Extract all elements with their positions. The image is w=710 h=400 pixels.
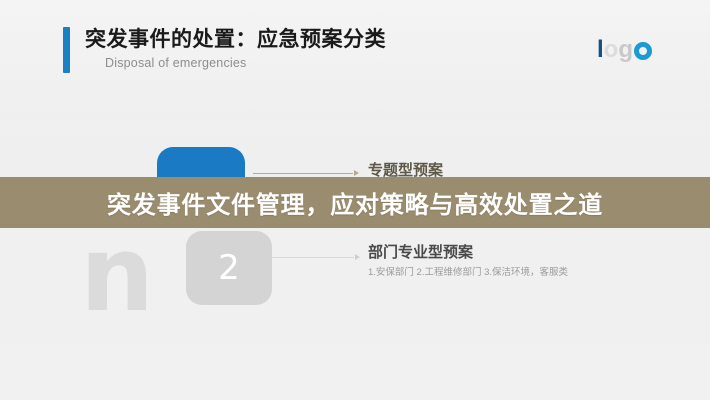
category-label-2: 部门专业型预案 1.安保部门 2.工程维修部门 3.保洁环境，客服类 <box>368 243 568 279</box>
slide-screenshot: 突发事件的处置：应急预案分类 Disposal of emergencies l… <box>0 0 710 400</box>
logo-letter-g: g <box>618 37 633 63</box>
category-title-2: 部门专业型预案 <box>368 243 568 262</box>
connector-arrow-1-icon <box>354 170 359 176</box>
slide-subtitle-english: Disposal of emergencies <box>105 56 246 70</box>
logo: l o g <box>597 37 652 63</box>
logo-letter-l: l <box>597 37 604 63</box>
logo-ring-icon <box>634 42 652 60</box>
connector-line-2 <box>272 257 354 258</box>
step-card-2: 2 <box>186 231 272 305</box>
overlay-banner-text: 突发事件文件管理，应对策略与高效处置之道 <box>107 185 603 220</box>
connector-line-1 <box>253 173 353 174</box>
connector-arrow-2-icon <box>355 254 360 260</box>
accent-bar <box>63 27 70 73</box>
watermark-glyph: n <box>80 222 154 326</box>
category-subtitle-2: 1.安保部门 2.工程维修部门 3.保洁环境，客服类 <box>368 266 568 279</box>
slide-header: 突发事件的处置：应急预案分类 Disposal of emergencies <box>63 26 583 78</box>
step-number-2: 2 <box>218 248 240 288</box>
overlay-banner: 突发事件文件管理，应对策略与高效处置之道 <box>0 177 710 228</box>
slide-title-chinese: 突发事件的处置：应急预案分类 <box>85 26 386 54</box>
logo-letter-o: o <box>604 37 619 63</box>
